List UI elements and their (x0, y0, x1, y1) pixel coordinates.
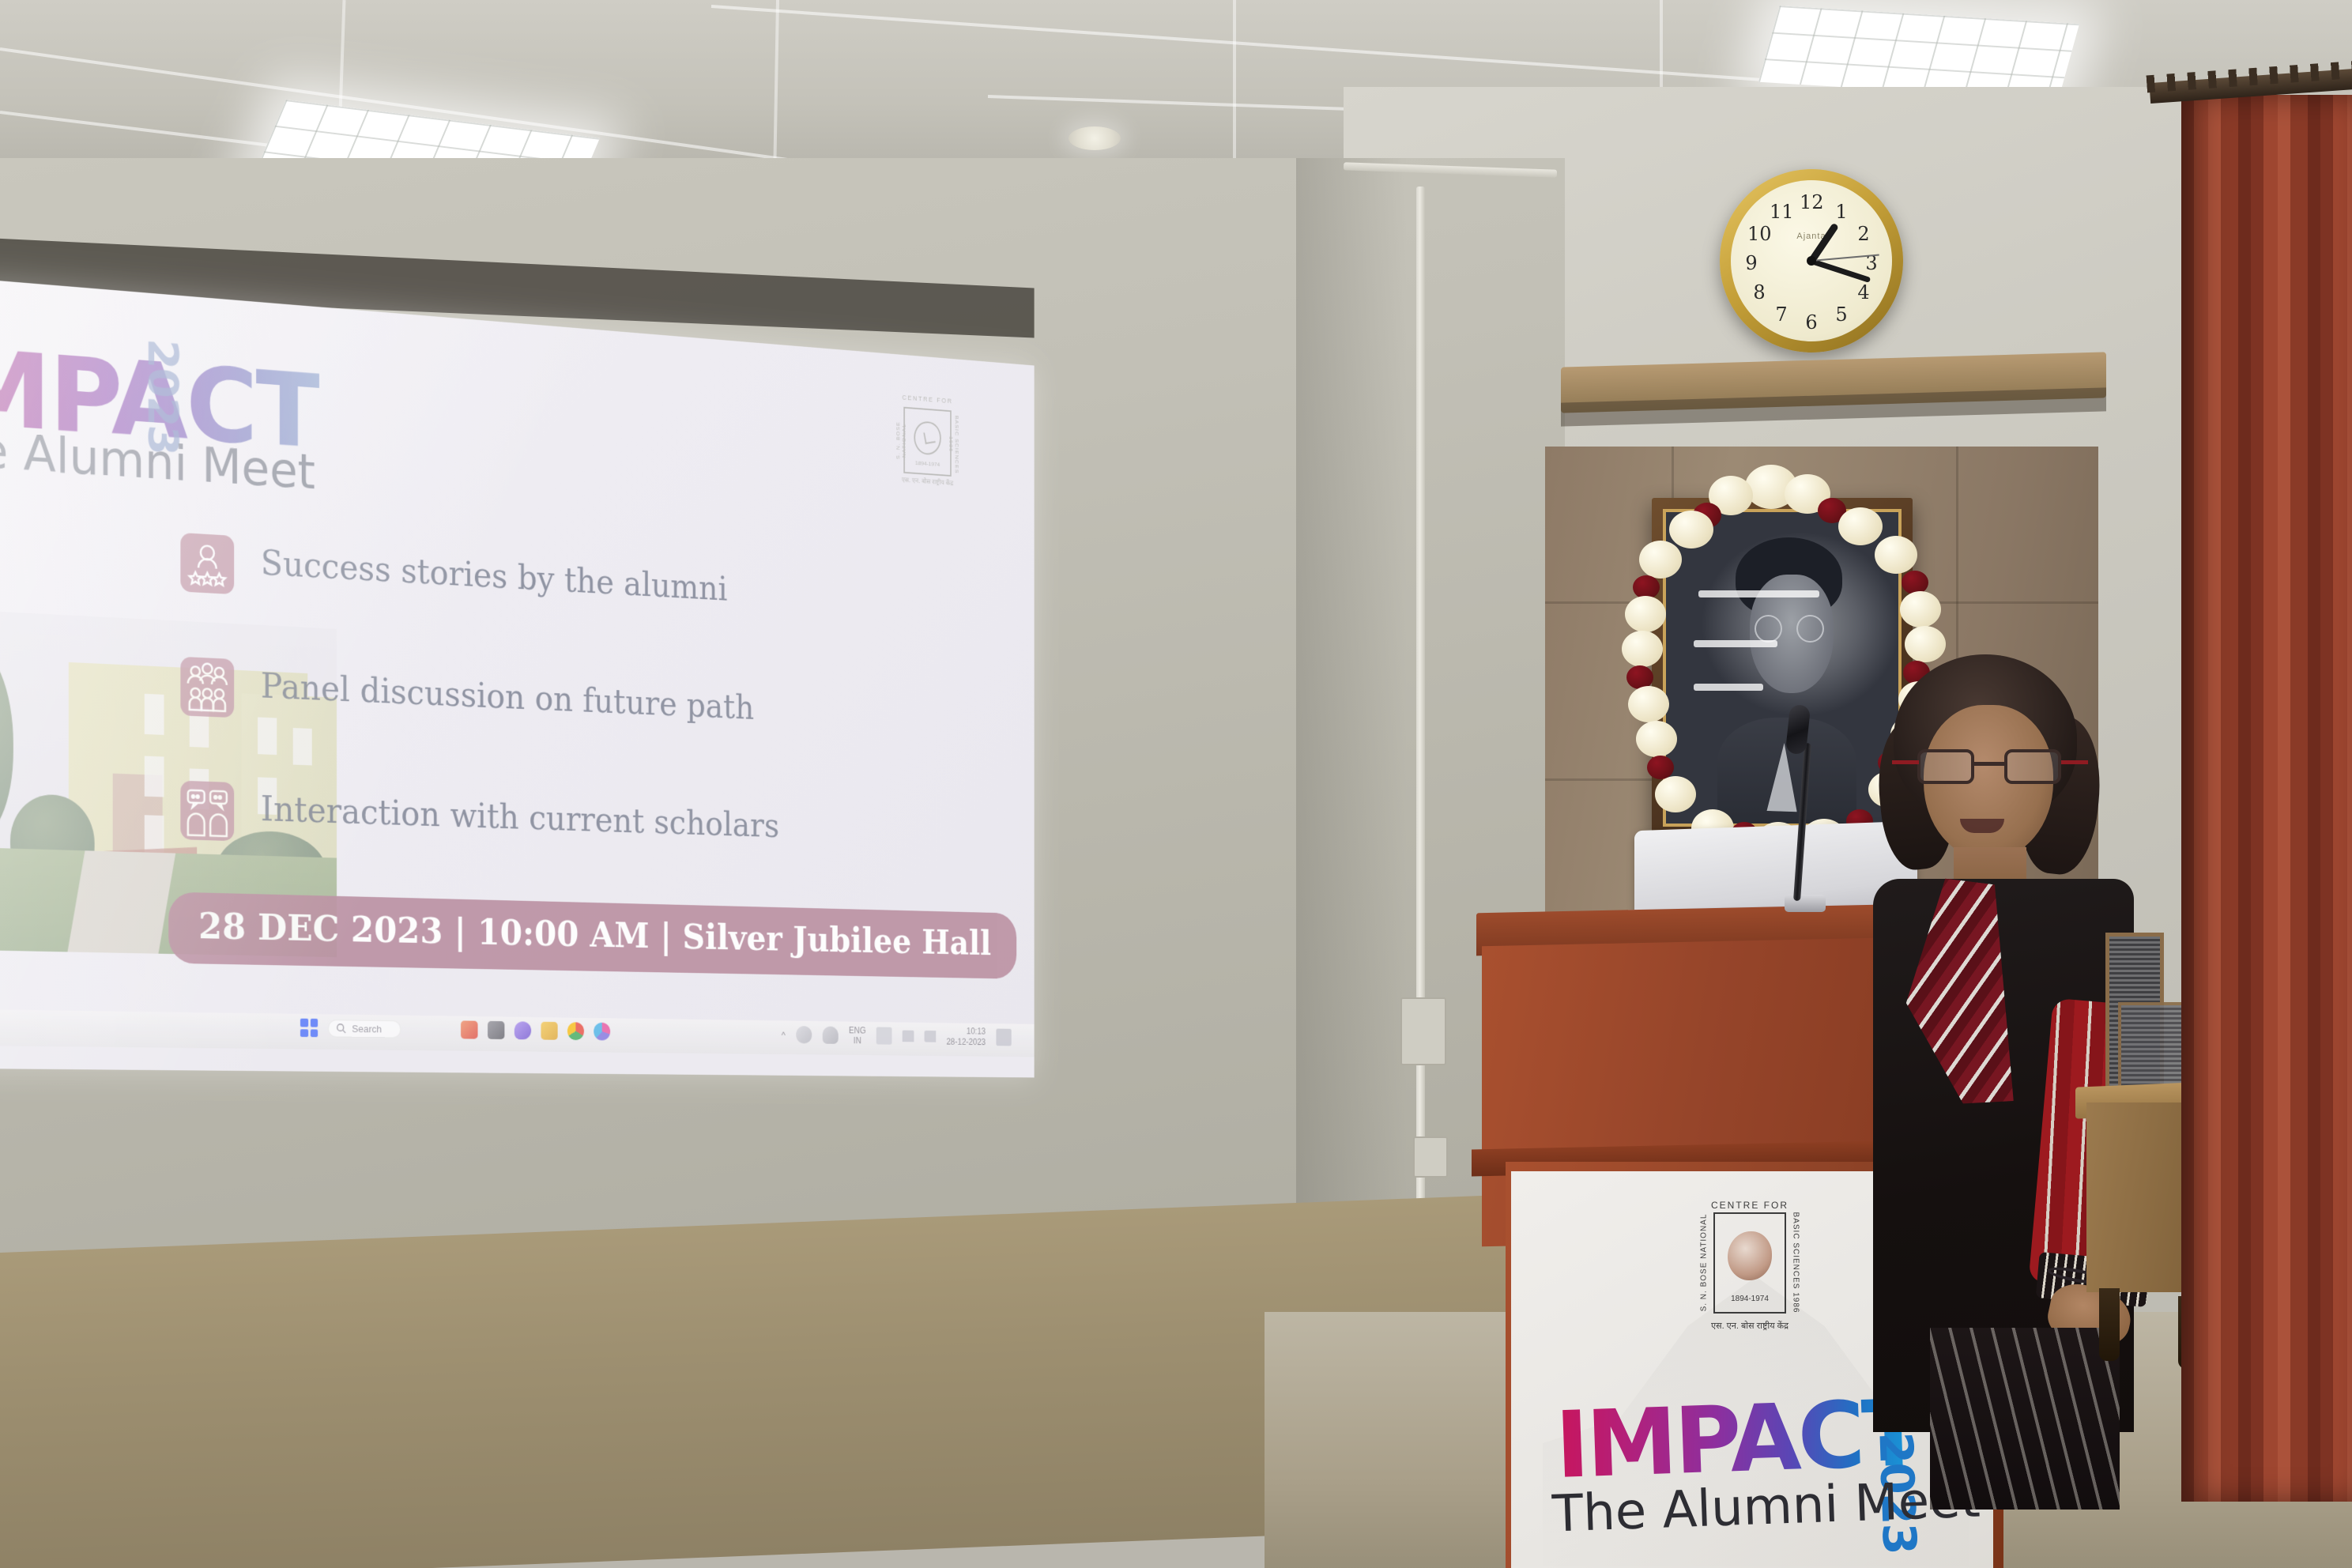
institute-logo: CENTRE FOR S. N. BOSE NATIONAL BASIC SCI… (887, 391, 968, 488)
clock-numeral: 9 (1739, 251, 1763, 275)
speaker-lower-garment (1930, 1328, 2120, 1510)
side-table-leg (2099, 1288, 2120, 1361)
language-indicator[interactable]: ENG IN (849, 1025, 866, 1046)
search-icon (336, 1023, 346, 1034)
wall-socket (1413, 1136, 1448, 1178)
slide-bullet-label: Interaction with current scholars (261, 790, 779, 845)
clock-numeral: 6 (1800, 311, 1823, 334)
clock-numeral: 5 (1830, 303, 1853, 326)
clock-numeral: 11 (1770, 200, 1793, 224)
institute-logo-hindi: एस. एन. बोस राष्ट्रीय केंद्र (1679, 1320, 1821, 1332)
clock-numeral: 2 (1852, 222, 1875, 246)
notification-bell-icon[interactable] (823, 1027, 839, 1044)
institute-logo: CENTRE FOR S. N. BOSE NATIONAL BASIC SCI… (1679, 1195, 1821, 1337)
search-input[interactable]: Search (328, 1020, 401, 1038)
clock-numeral: 1 (1830, 200, 1853, 224)
clock-numeral: 4 (1852, 281, 1875, 304)
action-center-icon[interactable] (996, 1029, 1011, 1046)
clock-numeral: 8 (1747, 281, 1771, 304)
language-code: ENG (849, 1025, 866, 1035)
clock-face: Ajanta 12 1 2 3 4 5 6 7 8 9 10 11 (1731, 180, 1892, 341)
search-placeholder: Search (352, 1023, 382, 1035)
wall-shadow (1296, 158, 1407, 1328)
display-icon[interactable] (876, 1027, 892, 1044)
slide-bullet-label: Panel discussion on future path (261, 666, 754, 727)
slide-bullet-list: Success stories by the alumni Panel disc… (180, 528, 911, 918)
person-star-icon (180, 533, 234, 594)
clock-center-pin (1807, 256, 1816, 266)
ceiling-light-panel (1758, 6, 2079, 100)
institute-logo-top-text: CENTRE FOR (887, 393, 968, 406)
ceiling-downlight (1069, 126, 1121, 150)
chrome-icon[interactable] (567, 1022, 584, 1040)
network-icon[interactable] (903, 1031, 914, 1042)
curtain (2181, 95, 2352, 1502)
folder-icon[interactable] (541, 1022, 558, 1040)
wall-clock: Ajanta 12 1 2 3 4 5 6 7 8 9 10 11 (1720, 169, 1903, 352)
institute-logo-right-text: BASIC SCIENCES 1986 (1792, 1211, 1800, 1315)
clock-time: 10:13 (967, 1026, 986, 1036)
eyeglasses (1917, 749, 2061, 786)
show-hidden-icons[interactable]: ^ (782, 1029, 786, 1040)
start-icon[interactable] (300, 1019, 318, 1038)
onedrive-icon[interactable] (796, 1026, 812, 1043)
scene-root: IMPACT 2023 The Alumni Meet CENTRE FOR S… (0, 0, 2352, 1568)
institute-logo-top-text: CENTRE FOR (1679, 1200, 1821, 1211)
microphone-base (1785, 895, 1826, 912)
clock-numeral: 10 (1747, 222, 1771, 246)
clock-numeral: 7 (1770, 303, 1793, 326)
institute-logo-years: 1894-1974 (1713, 1295, 1786, 1303)
file-explorer-icon[interactable] (488, 1021, 504, 1039)
group-people-icon (180, 657, 234, 718)
clock-date: 28-12-2023 (946, 1037, 986, 1047)
language-region: IN (854, 1035, 861, 1046)
institute-logo-left-text: S. N. BOSE NATIONAL (1700, 1211, 1709, 1315)
photos-icon[interactable] (594, 1023, 610, 1041)
presentation-slide: IMPACT 2023 The Alumni Meet CENTRE FOR S… (0, 278, 1035, 1024)
wall-socket (1400, 997, 1446, 1065)
clock-numeral: 12 (1800, 190, 1823, 214)
taskbar-clock[interactable]: 10:13 28-12-2023 (946, 1026, 986, 1048)
two-heads-conversation-icon (180, 781, 234, 842)
volume-icon[interactable] (925, 1031, 937, 1042)
teams-chat-icon[interactable] (514, 1021, 531, 1039)
news-weather-icon[interactable] (461, 1020, 477, 1038)
projection-screen[interactable]: IMPACT 2023 The Alumni Meet CENTRE FOR S… (0, 278, 1035, 1077)
slide-bullet-label: Success stories by the alumni (261, 544, 728, 609)
